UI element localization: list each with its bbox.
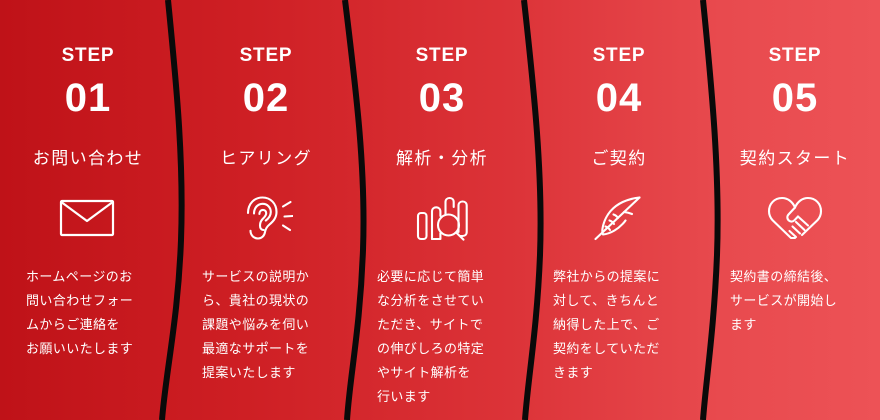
- handshake-heart-icon: [766, 193, 824, 243]
- step-label: STEP: [593, 46, 646, 65]
- step-title: お問い合わせ: [33, 150, 143, 167]
- step-card-01: STEP 01 お問い合わせ ホームページのお 問い合わせフォー ムからご連絡を…: [0, 0, 176, 420]
- step-number: 03: [419, 78, 466, 118]
- step-card-04: STEP 04 ご契約 弊社からの提案に 対して、きちんと 納得した上で、ご 契…: [528, 0, 704, 420]
- step-number: 05: [772, 78, 819, 118]
- steps-row: STEP 01 お問い合わせ ホームページのお 問い合わせフォー ムからご連絡を…: [0, 0, 880, 420]
- step-card-02: STEP 02 ヒアリング サービスの説明か ら、貴社の現状の 課題や悩みを伺い…: [176, 0, 352, 420]
- step-number: 02: [243, 78, 290, 118]
- step-title: ご契約: [591, 150, 646, 167]
- step-title: 解析・分析: [396, 150, 488, 167]
- bar-chart-magnifier-icon: [415, 193, 471, 243]
- step-description: ホームページのお 問い合わせフォー ムからご連絡を お願いいたします: [26, 265, 150, 361]
- step-card-05: STEP 05 契約スタート 契約書の締結後、 サービスが開始し ます: [704, 0, 880, 420]
- feather-quill-icon: [592, 193, 644, 243]
- envelope-icon: [59, 193, 115, 243]
- step-number: 01: [65, 78, 112, 118]
- step-label: STEP: [769, 46, 822, 65]
- step-flow-banner: STEP 01 お問い合わせ ホームページのお 問い合わせフォー ムからご連絡を…: [0, 0, 880, 420]
- step-description: サービスの説明か ら、貴社の現状の 課題や悩みを伺い 最適なサポートを 提案いた…: [202, 265, 326, 385]
- step-description: 弊社からの提案に 対して、きちんと 納得した上で、ご 契約をしていただ きます: [553, 265, 679, 385]
- step-description: 契約書の締結後、 サービスが開始し ます: [730, 265, 854, 337]
- step-label: STEP: [62, 46, 115, 65]
- step-label: STEP: [416, 46, 469, 65]
- step-card-03: STEP 03 解析・分析 必要に応じて簡単 な分析をさせてい ただき、サイトで…: [352, 0, 528, 420]
- step-label: STEP: [240, 46, 293, 65]
- step-number: 04: [596, 78, 643, 118]
- step-title: ヒアリング: [220, 150, 312, 167]
- step-title: 契約スタート: [740, 150, 850, 167]
- step-description: 必要に応じて簡単 な分析をさせてい ただき、サイトで の伸びしろの特定 やサイト…: [377, 265, 503, 409]
- ear-listening-icon: [239, 193, 293, 243]
